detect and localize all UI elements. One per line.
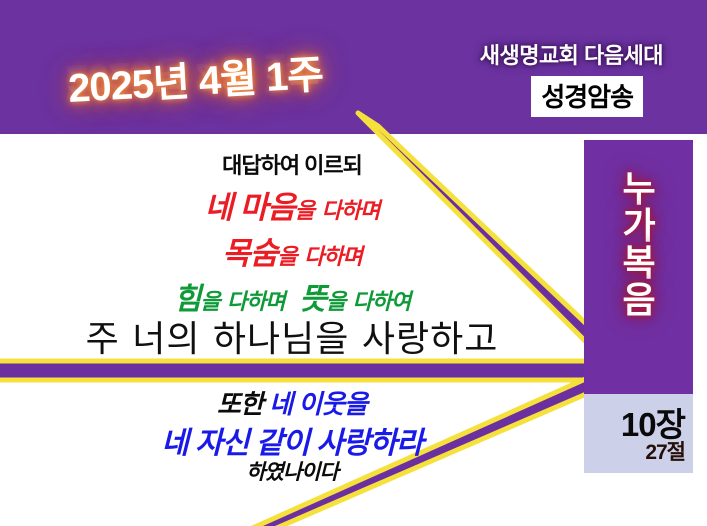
line3-tail: 다하며 — [304, 244, 362, 269]
scripture-body: 대답하여 이르되 네 마음을 다하며 목숨을 다하며 힘을 다하며 뜻을 다하여… — [0, 134, 584, 526]
line2-tail: 다하며 — [322, 198, 380, 223]
line2-main: 네 마음 — [205, 190, 295, 225]
bible-memory-slide: 2025년 4월 1주 2025년 4월 1주 새생명교회 다음세대 성경암송 … — [0, 0, 707, 526]
line3-particle: 을 — [277, 244, 296, 269]
verse-label: 27절 — [584, 436, 685, 466]
book-name-box: 누 가 복 음 — [584, 140, 693, 394]
line2-particle: 을 — [295, 198, 314, 223]
scripture-line-5: 주 너의 하나님을 사랑하고 — [0, 310, 584, 362]
line3-main: 목숨 — [222, 236, 277, 271]
line6-blue: 네 이웃을 — [269, 389, 367, 419]
scripture-line-8: 하였나이다 — [0, 456, 584, 486]
book-char-2: 가 — [584, 207, 693, 244]
scripture-line-3: 목숨을 다하며 — [0, 228, 584, 273]
scripture-line-1: 대답하여 이르되 — [0, 148, 584, 180]
book-char-4: 음 — [584, 281, 693, 318]
scripture-line-6: 또한 네 이웃을 — [0, 384, 584, 421]
chapter-verse-box: 10장 27절 — [584, 394, 693, 473]
scripture-line-2: 네 마음을 다하며 — [0, 182, 584, 227]
line6-black: 또한 — [217, 389, 263, 419]
book-char-3: 복 — [584, 244, 693, 281]
book-char-1: 누 — [584, 170, 693, 207]
book-name-vertical: 누 가 복 음 — [584, 170, 693, 318]
